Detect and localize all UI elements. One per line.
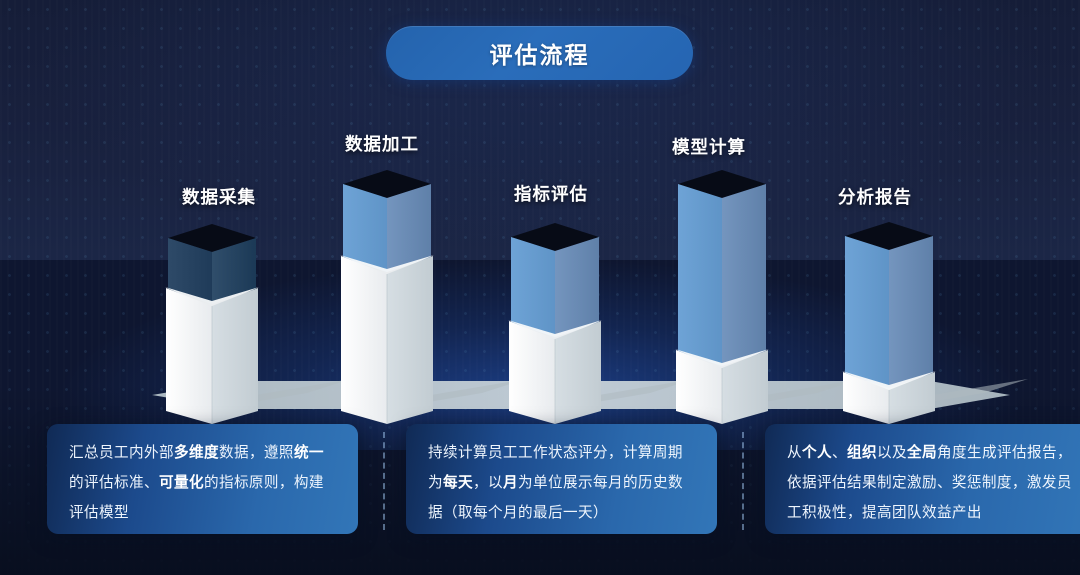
card-text-emphasis: 可量化 — [159, 475, 204, 491]
description-card-3: 从个人、组织以及全局角度生成评估报告，依据评估结果制定激励、奖惩制度，激发员工积… — [765, 424, 1080, 534]
card-text-emphasis: 统一 — [294, 445, 324, 461]
card-text: 数据，遵照 — [219, 445, 294, 461]
card-text: ，以 — [473, 475, 503, 491]
pillar-label-step-2: 数据加工 — [345, 131, 419, 156]
card-text-emphasis: 全局 — [907, 445, 937, 461]
pillar-label-step-4: 模型计算 — [672, 134, 746, 159]
card-text: 汇总员工内外部 — [69, 445, 174, 461]
slide-canvas: 评估流程 数据采集 数据加工 指标评估 模型计算 分析报告 汇总员工内外部多维度… — [0, 0, 1080, 575]
pillar-step-2 — [343, 170, 433, 428]
pillar-label-step-5: 分析报告 — [838, 184, 912, 209]
description-card-2: 持续计算员工工作状态评分，计算周期为每天，以月为单位展示每月的历史数据（取每个月… — [406, 424, 717, 534]
card-text: 的评估标准、 — [69, 475, 159, 491]
pillar-step-5 — [845, 222, 935, 428]
card-text-emphasis: 月 — [503, 475, 518, 491]
card-divider-2 — [742, 432, 744, 530]
card-text-emphasis: 多维度 — [174, 445, 219, 461]
page-title: 评估流程 — [490, 36, 590, 70]
pillar-label-step-3: 指标评估 — [514, 181, 588, 206]
description-card-1: 汇总员工内外部多维度数据，遵照统一的评估标准、可量化的指标原则，构建评估模型 — [47, 424, 358, 534]
card-text-emphasis: 个人 — [802, 445, 832, 461]
card-text-emphasis: 每天 — [443, 475, 473, 491]
pillar-step-4 — [678, 170, 768, 428]
pillar-step-3 — [511, 223, 601, 428]
card-text: 、 — [832, 445, 847, 461]
card-text: 从 — [787, 445, 802, 461]
card-text-emphasis: 组织 — [847, 445, 877, 461]
card-divider-1 — [383, 432, 385, 530]
page-title-pill: 评估流程 — [386, 26, 693, 80]
pillar-step-1 — [168, 224, 258, 428]
card-text: 以及 — [877, 445, 907, 461]
pillar-label-step-1: 数据采集 — [182, 184, 256, 209]
